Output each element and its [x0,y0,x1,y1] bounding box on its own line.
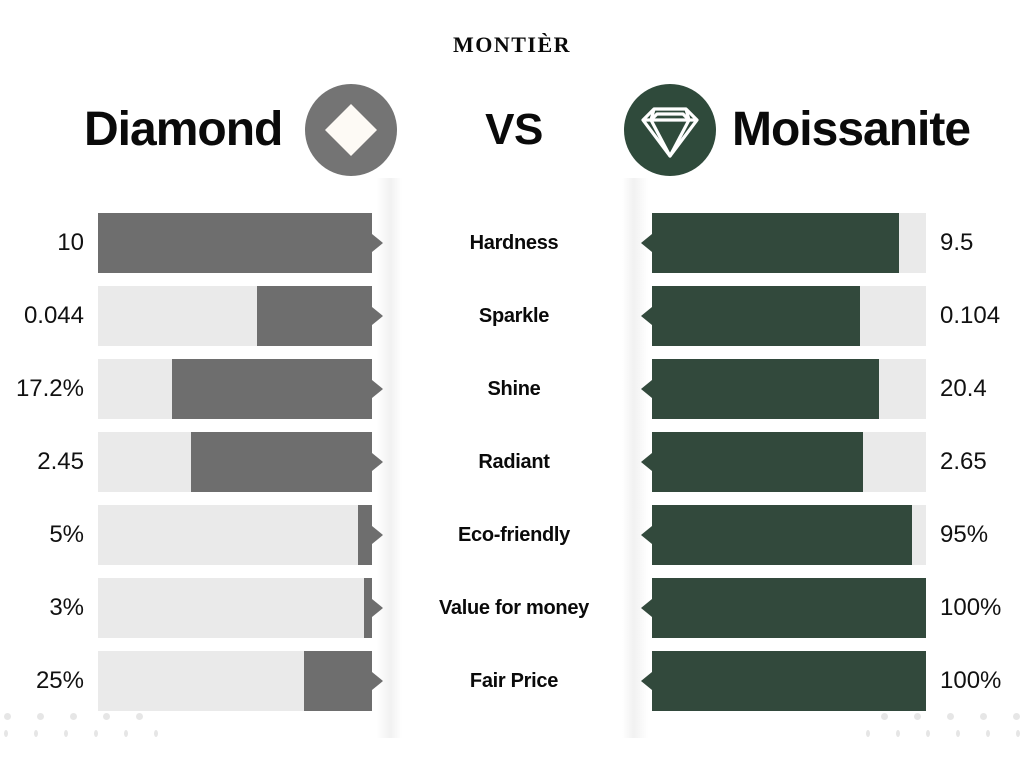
decorative-dot [926,730,930,737]
right-column-title: Moissanite [732,82,970,178]
left-bar-track [98,651,372,711]
right-arrow-icon [641,307,652,325]
comparison-row: 5%Eco-friendly95% [0,505,1024,578]
vs-label: VS [402,82,626,178]
comparison-row: 2.45Radiant2.65 [0,432,1024,505]
criterion-label: Fair Price [398,651,630,711]
right-value-label: 95% [940,505,1024,565]
right-bar-track [652,578,926,638]
decorative-dot [866,730,870,737]
criterion-label: Value for money [398,578,630,638]
decorative-dot [64,730,68,737]
gem-cut-icon [624,84,716,176]
criterion-label: Eco-friendly [398,505,630,565]
dot-row [4,725,184,742]
right-bar-fill [652,213,899,273]
right-arrow-icon [641,599,652,617]
right-bar-fill [652,359,879,419]
diamond-badge [305,84,397,176]
decorative-dot [956,730,960,737]
left-bar-track [98,359,372,419]
right-value-label: 100% [940,651,1024,711]
left-value-label: 2.45 [0,432,84,492]
decorative-dot [34,730,38,737]
left-arrow-icon [372,672,383,690]
criterion-label: Hardness [398,213,630,273]
right-bar-fill [652,505,912,565]
decorative-dot [1013,713,1020,720]
left-bar-fill [191,432,372,492]
right-bar-fill [652,432,863,492]
right-bar-fill [652,286,860,346]
right-bar-track [652,432,926,492]
criterion-label: Sparkle [398,286,630,346]
left-bar-fill [98,213,372,273]
right-value-label: 20.4 [940,359,1024,419]
left-arrow-icon [372,526,383,544]
brand-wordmark: MONTIÈR [0,24,1024,60]
right-arrow-icon [641,380,652,398]
criterion-label: Shine [398,359,630,419]
dot-row [840,725,1020,742]
decorative-dot [124,730,128,737]
left-bar-track [98,286,372,346]
right-bar-track [652,213,926,273]
decorative-dots-right [840,708,1020,760]
right-value-label: 9.5 [940,213,1024,273]
left-arrow-icon [372,599,383,617]
decorative-dot [136,713,143,720]
decorative-dot [103,713,110,720]
decorative-dot [881,713,888,720]
left-bar-fill [257,286,372,346]
right-bar-track [652,286,926,346]
left-value-label: 5% [0,505,84,565]
right-bar-fill [652,651,926,711]
comparison-header: Diamond VS Moissanite [0,82,1024,178]
comparison-row: 17.2%Shine20.4 [0,359,1024,432]
right-arrow-icon [641,453,652,471]
decorative-dot [94,730,98,737]
dot-row [4,742,184,759]
left-bar-fill [304,651,373,711]
left-bar-track [98,213,372,273]
left-bar-track [98,505,372,565]
decorative-dot [154,730,158,737]
right-arrow-icon [641,234,652,252]
criterion-label: Radiant [398,432,630,492]
comparison-rows: 10Hardness9.50.044Sparkle0.10417.2%Shine… [0,213,1024,724]
decorative-dot [914,713,921,720]
decorative-dot [980,713,987,720]
decorative-dot [947,713,954,720]
left-arrow-icon [372,453,383,471]
left-value-label: 10 [0,213,84,273]
decorative-dot [896,730,900,737]
left-bar-track [98,578,372,638]
infographic-page: MONTIÈR Diamond VS Moissanite 10Hardness… [0,0,1024,768]
comparison-row: 3%Value for money100% [0,578,1024,651]
right-arrow-icon [641,526,652,544]
decorative-dot [4,713,11,720]
right-bar-track [652,505,926,565]
left-bar-fill [364,578,372,638]
left-column-title: Diamond [84,82,282,178]
right-bar-track [652,359,926,419]
decorative-dots-left [4,708,184,760]
left-bar-fill [172,359,372,419]
left-value-label: 3% [0,578,84,638]
diamond-rhombus-icon [305,84,397,176]
right-arrow-icon [641,672,652,690]
left-bar-track [98,432,372,492]
decorative-dot [70,713,77,720]
decorative-dot [986,730,990,737]
comparison-row: 10Hardness9.5 [0,213,1024,286]
right-bar-track [652,651,926,711]
left-arrow-icon [372,307,383,325]
right-value-label: 0.104 [940,286,1024,346]
dot-row [840,708,1020,725]
left-arrow-icon [372,234,383,252]
left-value-label: 0.044 [0,286,84,346]
right-bar-fill [652,578,926,638]
left-value-label: 25% [0,651,84,711]
left-arrow-icon [372,380,383,398]
decorative-dot [37,713,44,720]
dot-row [840,742,1020,759]
comparison-row: 0.044Sparkle0.104 [0,286,1024,359]
moissanite-badge [624,84,716,176]
decorative-dot [4,730,8,737]
right-value-label: 2.65 [940,432,1024,492]
right-value-label: 100% [940,578,1024,638]
decorative-dot [1016,730,1020,737]
left-value-label: 17.2% [0,359,84,419]
dot-row [4,708,184,725]
left-bar-fill [358,505,372,565]
